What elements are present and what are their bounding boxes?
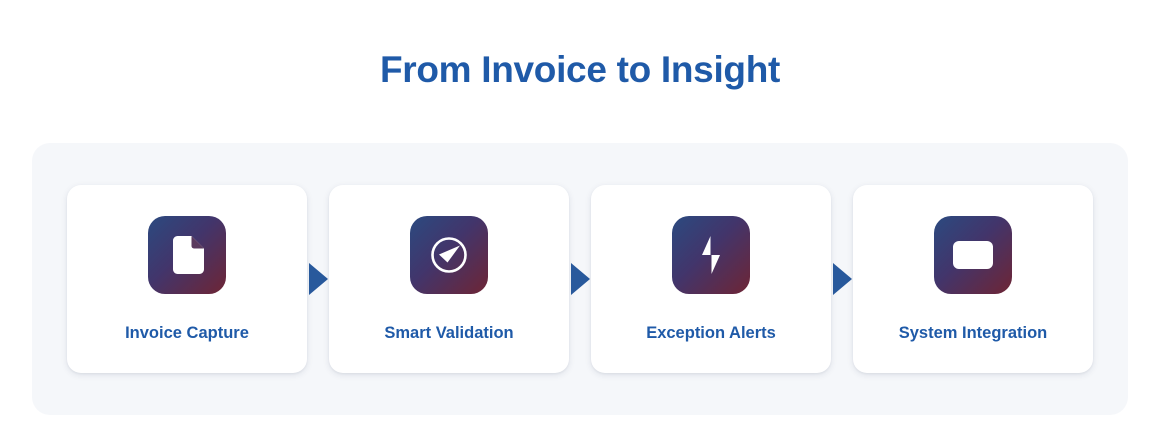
flow-step-label: Smart Validation bbox=[384, 324, 513, 343]
lightning-bolt-icon bbox=[672, 216, 750, 294]
arrow-right-icon bbox=[567, 263, 593, 295]
flow-row: Invoice Capture Smart Validation bbox=[32, 143, 1128, 415]
flow-step-label: Exception Alerts bbox=[646, 324, 776, 343]
check-circle-icon bbox=[410, 216, 488, 294]
document-icon bbox=[148, 216, 226, 294]
page-title: From Invoice to Insight bbox=[0, 48, 1160, 92]
flow-step-label: Invoice Capture bbox=[125, 324, 249, 343]
flow-step-card[interactable]: Invoice Capture bbox=[67, 185, 307, 373]
flow-step-label: System Integration bbox=[899, 324, 1048, 343]
arrow-right-icon bbox=[305, 263, 331, 295]
flow-step-card[interactable]: System Integration bbox=[853, 185, 1093, 373]
flow-step-card[interactable]: Smart Validation bbox=[329, 185, 569, 373]
server-screen-icon bbox=[934, 216, 1012, 294]
flow-panel: Invoice Capture Smart Validation bbox=[32, 143, 1128, 415]
flow-step-card[interactable]: Exception Alerts bbox=[591, 185, 831, 373]
arrow-right-icon bbox=[829, 263, 855, 295]
infographic-page: From Invoice to Insight Invoice Capture bbox=[0, 0, 1160, 439]
